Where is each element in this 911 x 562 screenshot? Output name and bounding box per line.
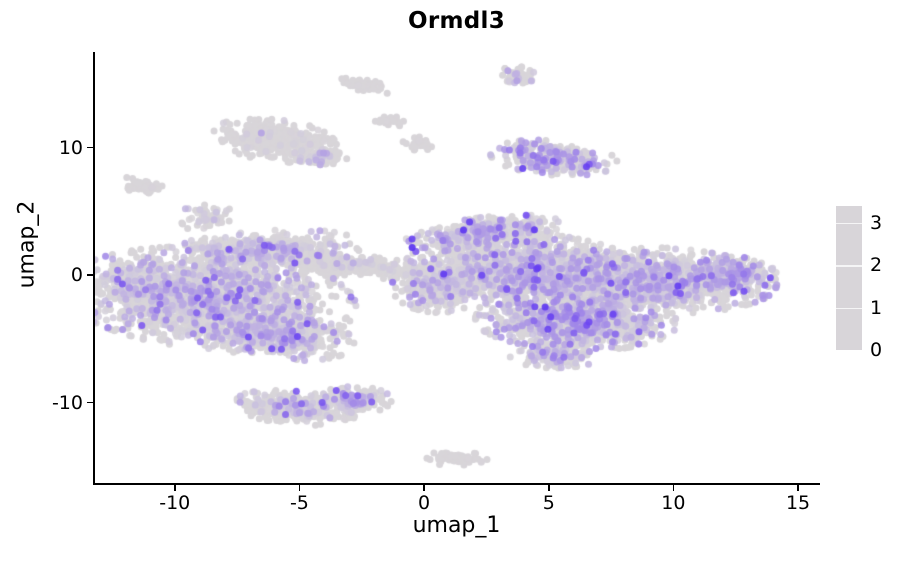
y-tick-mark <box>87 402 93 404</box>
x-tick-label: 10 <box>661 492 685 514</box>
y-tick-label: 10 <box>59 137 83 159</box>
y-tick-mark <box>87 147 93 149</box>
x-tick-label: 15 <box>786 492 810 514</box>
x-tick-label: -10 <box>159 492 190 514</box>
x-tick-mark <box>174 485 176 491</box>
x-tick-mark <box>797 485 799 491</box>
colorbar-tick-mark <box>836 223 862 225</box>
x-axis-spine <box>93 483 820 485</box>
page-title: Ormdl3 <box>95 8 818 34</box>
scatter-points-canvas <box>95 52 818 483</box>
x-tick-mark <box>423 485 425 491</box>
y-tick-mark <box>87 274 93 276</box>
x-tick-mark <box>673 485 675 491</box>
colorbar-tick-mark <box>836 308 862 310</box>
y-tick-label: -10 <box>52 392 83 414</box>
y-axis-label: umap_2 <box>15 155 40 335</box>
colorbar <box>836 206 862 350</box>
colorbar-tick-label: 0 <box>870 339 882 361</box>
plot-area <box>95 52 818 483</box>
x-tick-label: -5 <box>290 492 309 514</box>
colorbar-gradient <box>836 206 862 350</box>
x-tick-label: 0 <box>418 492 430 514</box>
x-tick-label: 5 <box>543 492 555 514</box>
y-tick-label: 0 <box>71 264 83 286</box>
colorbar-tick-mark <box>836 265 862 267</box>
umap-feature-plot: Ormdl3 -10-5051015 -10010 umap_1 umap_2 … <box>0 0 911 562</box>
x-tick-mark <box>548 485 550 491</box>
y-axis-spine <box>93 52 95 485</box>
colorbar-tick-label: 3 <box>870 212 882 234</box>
x-tick-mark <box>299 485 301 491</box>
colorbar-tick-label: 2 <box>870 254 882 276</box>
colorbar-tick-label: 1 <box>870 297 882 319</box>
x-axis-label: umap_1 <box>95 513 818 538</box>
